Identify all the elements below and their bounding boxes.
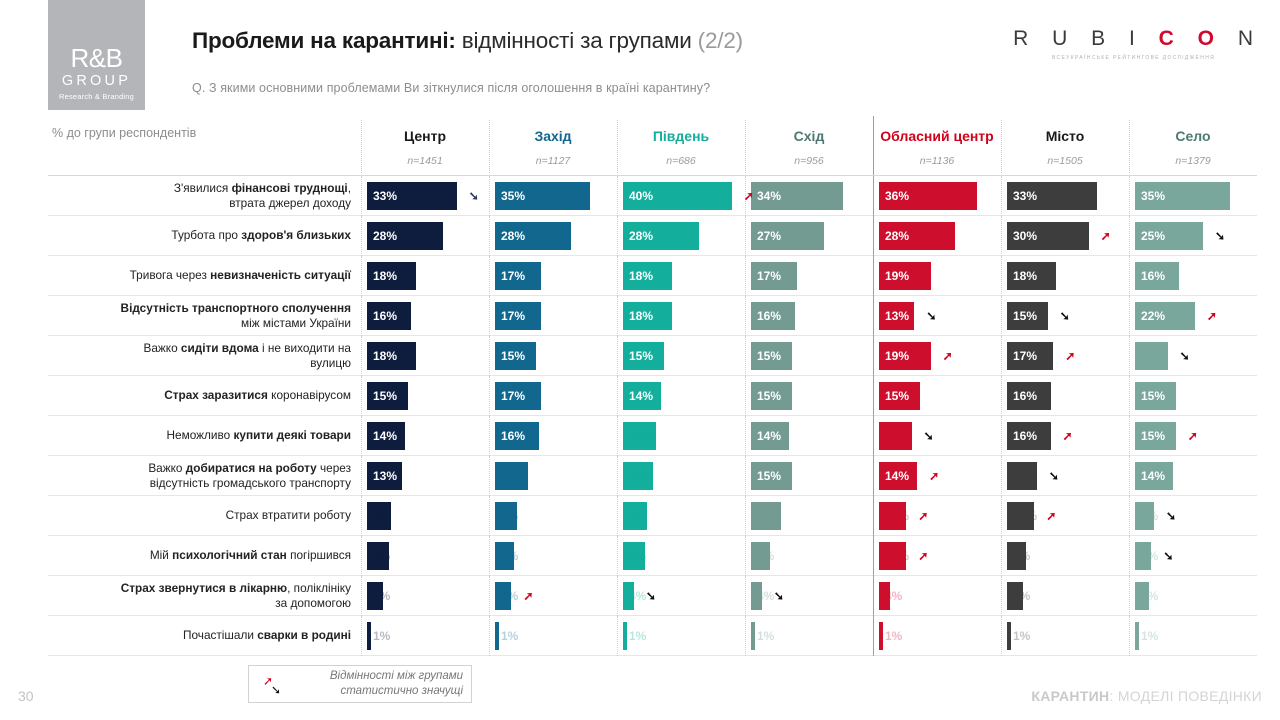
value-label: 14% <box>757 429 781 443</box>
data-cell[interactable]: 35% <box>1129 176 1257 216</box>
value-label: 15% <box>501 349 525 363</box>
data-cell[interactable]: 17% <box>489 296 617 336</box>
table-corner-label: % до групи респондентів <box>48 118 361 175</box>
value-label: 16% <box>1141 269 1165 283</box>
data-cell[interactable]: 4% <box>873 576 1001 616</box>
value-label: 34% <box>757 189 781 203</box>
table-row: Важко добиратися на роботу черезвідсутні… <box>48 456 1257 496</box>
value-label: 15% <box>757 349 781 363</box>
data-cell[interactable]: 18% <box>361 256 489 296</box>
value-bar: 14% <box>751 422 789 450</box>
value-bar: 8% <box>623 542 645 570</box>
data-cell[interactable]: 18% <box>361 336 489 376</box>
row-label: Страх звернутися в лікарню, поліклінікуз… <box>48 581 361 610</box>
value-label: 6% <box>1013 589 1030 603</box>
data-cell[interactable]: 13%➘ <box>873 296 1001 336</box>
value-bar: 18% <box>367 342 416 370</box>
value-bar: 33% <box>1007 182 1097 210</box>
value-bar: 1% <box>1135 622 1139 650</box>
value-bar: 17% <box>751 262 797 290</box>
value-label: 17% <box>501 309 525 323</box>
value-bar: 18% <box>623 302 672 330</box>
data-cell[interactable]: 7% <box>489 536 617 576</box>
data-cell[interactable]: 6%➚ <box>489 576 617 616</box>
data-cell[interactable]: 17% <box>489 376 617 416</box>
data-cell[interactable]: 4%➘ <box>745 576 873 616</box>
data-cell[interactable]: 27% <box>745 216 873 256</box>
data-cell[interactable]: 36% <box>873 176 1001 216</box>
value-bar: 6%➘ <box>1135 542 1151 570</box>
table-header-row: % до групи респондентівЦентрn=1451Західn… <box>48 118 1257 175</box>
data-cell[interactable]: 12%➘ <box>1129 336 1257 376</box>
data-cell[interactable]: 16% <box>745 296 873 336</box>
value-label: 16% <box>501 429 525 443</box>
arrow-up-icon: ➚ <box>1065 350 1075 362</box>
data-cell[interactable]: 1% <box>361 616 489 656</box>
table-body: З'явилися фінансові труднощі,втрата джер… <box>48 175 1257 656</box>
data-cell[interactable]: 7%➘ <box>1129 496 1257 536</box>
value-label: 4% <box>757 589 774 603</box>
value-bar: 11%➘ <box>1007 462 1037 490</box>
data-cell[interactable]: 1% <box>1129 616 1257 656</box>
slide-root: R&B GROUP Research & Branding Проблеми н… <box>0 0 1280 720</box>
row-label: Турбота про здоров'я близьких <box>48 228 361 243</box>
value-label: 14% <box>1141 469 1165 483</box>
value-label: 17% <box>757 269 781 283</box>
data-cell[interactable]: 30%➚ <box>1001 216 1129 256</box>
data-cell[interactable]: 8% <box>489 496 617 536</box>
value-label: 36% <box>885 189 909 203</box>
data-cell[interactable]: 15%➘ <box>1001 296 1129 336</box>
value-label: 10% <box>885 509 909 523</box>
value-bar: 5% <box>1135 582 1149 610</box>
value-bar: 14%➚ <box>879 462 917 490</box>
data-cell[interactable]: 28% <box>489 216 617 256</box>
value-label: 22% <box>1141 309 1165 323</box>
value-bar: 25%➘ <box>1135 222 1203 250</box>
column-header-name: Місто <box>1001 118 1129 144</box>
value-label: 18% <box>629 309 653 323</box>
data-cell[interactable]: 7% <box>1001 536 1129 576</box>
data-cell[interactable]: 14% <box>1129 456 1257 496</box>
data-cell[interactable]: 15%➚ <box>1129 416 1257 456</box>
data-cell[interactable]: 28% <box>617 216 745 256</box>
data-cell[interactable]: 17% <box>745 256 873 296</box>
value-bar: 36% <box>879 182 977 210</box>
column-sample-size: n=1505 <box>1001 155 1129 167</box>
data-cell[interactable]: 15% <box>745 456 873 496</box>
value-bar: 15% <box>367 382 408 410</box>
row-label: Тривога через невизначеність ситуації <box>48 268 361 283</box>
data-cell[interactable]: 1% <box>745 616 873 656</box>
value-label: 15% <box>757 389 781 403</box>
value-label: 5% <box>1141 589 1158 603</box>
value-bar: 16%➚ <box>1007 422 1051 450</box>
data-cell[interactable]: 1% <box>489 616 617 656</box>
value-bar: 1% <box>1007 622 1011 650</box>
value-bar: 11% <box>751 502 781 530</box>
data-cell[interactable]: 10%➚ <box>873 536 1001 576</box>
value-label: 4% <box>629 589 646 603</box>
value-label: 1% <box>1013 629 1030 643</box>
value-bar: 13%➘ <box>879 302 914 330</box>
column-header-name: Село <box>1129 118 1257 144</box>
data-cell[interactable]: 11%➘ <box>1001 456 1129 496</box>
value-label: 15% <box>757 469 781 483</box>
rubicon-suffix: N <box>1223 27 1262 50</box>
value-label: 7% <box>1141 509 1158 523</box>
data-cell[interactable]: 1% <box>1001 616 1129 656</box>
value-bar: 28% <box>367 222 443 250</box>
data-cell[interactable]: 1% <box>617 616 745 656</box>
value-label: 8% <box>629 549 646 563</box>
table-row: Страх заразитися коронавірусом15%17%14%1… <box>48 376 1257 416</box>
data-cell[interactable]: 8% <box>361 536 489 576</box>
arrow-down-icon: ➘ <box>774 590 784 602</box>
data-cell[interactable]: 16% <box>361 296 489 336</box>
value-label: 12% <box>885 429 909 443</box>
value-bar: 18% <box>623 262 672 290</box>
value-bar: 8% <box>495 502 517 530</box>
legend-line-1: Відмінності між групами <box>295 669 463 684</box>
arrow-down-icon: ➘ <box>926 310 936 322</box>
value-label: 28% <box>629 229 653 243</box>
value-bar: 11% <box>623 462 653 490</box>
value-label: 19% <box>885 269 909 283</box>
value-label: 7% <box>1013 549 1030 563</box>
logo-initials: R&B <box>71 45 123 71</box>
data-cell[interactable]: 14% <box>745 416 873 456</box>
value-bar: 22%➚ <box>1135 302 1195 330</box>
value-bar: 12% <box>623 422 656 450</box>
column-header-3[interactable]: Південьn=686 <box>617 118 745 175</box>
data-cell[interactable]: 19%➚ <box>873 336 1001 376</box>
row-label: Мій психологічний стан погіршився <box>48 548 361 563</box>
value-label: 10% <box>1013 509 1037 523</box>
arrow-up-icon: ➚ <box>1207 310 1217 322</box>
data-cell[interactable]: 5% <box>1129 576 1257 616</box>
data-cell[interactable]: 1% <box>873 616 1001 656</box>
data-cell[interactable]: 4%➘ <box>617 576 745 616</box>
data-cell[interactable]: 17% <box>489 256 617 296</box>
column-sample-size: n=1379 <box>1129 155 1257 167</box>
value-bar: 28% <box>623 222 699 250</box>
value-label: 13% <box>373 469 397 483</box>
value-label: 28% <box>885 229 909 243</box>
value-bar: 17% <box>495 302 541 330</box>
table-row: Мій психологічний стан погіршився8%7%8%7… <box>48 536 1257 576</box>
data-cell[interactable]: 28% <box>873 216 1001 256</box>
data-cell[interactable]: 18% <box>617 296 745 336</box>
row-label: Почастішали сварки в родині <box>48 628 361 643</box>
table-row: Турбота про здоров'я близьких28%28%28%27… <box>48 216 1257 256</box>
column-sample-size: n=1127 <box>489 155 617 167</box>
column-header-5[interactable]: Обласний центрn=1136 <box>873 118 1001 175</box>
data-cell[interactable]: 33% <box>1001 176 1129 216</box>
data-cell[interactable]: 15% <box>745 336 873 376</box>
arrow-up-icon: ➚ <box>1101 230 1111 242</box>
value-bar: 12% <box>495 462 528 490</box>
data-cell[interactable]: 19% <box>873 256 1001 296</box>
table-row: Почастішали сварки в родині1%1%1%1%1%1%1… <box>48 616 1257 656</box>
value-label: 11% <box>757 509 780 523</box>
value-label: 16% <box>1013 389 1037 403</box>
value-bar: 16% <box>495 422 539 450</box>
value-label: 16% <box>373 309 397 323</box>
data-cell[interactable]: 13% <box>361 456 489 496</box>
value-label: 27% <box>757 229 781 243</box>
value-bar: 33%➘ <box>367 182 457 210</box>
value-bar: 7% <box>751 542 770 570</box>
data-cell[interactable]: 15% <box>361 376 489 416</box>
column-header-2[interactable]: Західn=1127 <box>489 118 617 175</box>
data-cell[interactable]: 15% <box>617 336 745 376</box>
value-bar: 14% <box>1135 462 1173 490</box>
value-bar: 16% <box>1007 382 1051 410</box>
legend-arrow-icons: ➚ ➘ <box>249 666 295 702</box>
value-bar: 18% <box>367 262 416 290</box>
column-header-4[interactable]: Східn=956 <box>745 118 873 175</box>
column-header-name: Захід <box>489 118 617 144</box>
column-header-6[interactable]: Містоn=1505 <box>1001 118 1129 175</box>
value-bar: 7%➘ <box>1135 502 1154 530</box>
value-bar: 1% <box>495 622 499 650</box>
value-bar: 30%➚ <box>1007 222 1089 250</box>
data-cell[interactable]: 11% <box>617 456 745 496</box>
value-label: 15% <box>629 349 653 363</box>
data-cell[interactable]: 16% <box>1129 256 1257 296</box>
row-label: Страх заразитися коронавірусом <box>48 388 361 403</box>
value-bar: 19% <box>879 262 931 290</box>
logo-tagline: Research & Branding <box>59 92 134 101</box>
data-cell[interactable]: 25%➘ <box>1129 216 1257 256</box>
value-label: 1% <box>629 629 646 643</box>
data-cell[interactable]: 17%➚ <box>1001 336 1129 376</box>
value-bar: 15% <box>879 382 920 410</box>
value-label: 35% <box>1141 189 1165 203</box>
value-label: 14% <box>373 429 397 443</box>
value-bar: 4%➘ <box>751 582 762 610</box>
data-cell[interactable]: 6% <box>361 576 489 616</box>
value-label: 17% <box>501 269 525 283</box>
arrow-up-icon: ➚ <box>918 510 928 522</box>
data-cell[interactable]: 11% <box>745 496 873 536</box>
value-label: 11% <box>1013 469 1036 483</box>
data-cell[interactable]: 12% <box>617 416 745 456</box>
footer-bold: КАРАНТИН <box>1031 688 1109 704</box>
value-label: 6% <box>501 589 518 603</box>
value-label: 14% <box>885 469 909 483</box>
rubicon-accent: C O <box>1159 27 1223 50</box>
column-header-name: Обласний центр <box>873 118 1001 144</box>
arrow-down-icon: ➘ <box>1049 470 1059 482</box>
value-label: 1% <box>1141 629 1158 643</box>
value-label: 35% <box>501 189 525 203</box>
table-row: Страх звернутися в лікарню, поліклінікуз… <box>48 576 1257 616</box>
rubicon-logo: R U B I C O N ВСЕУКРАЇНСЬКЕ РЕЙТИНГОВЕ Д… <box>1013 27 1262 61</box>
data-cell[interactable]: 18% <box>1001 256 1129 296</box>
data-cell[interactable]: 22%➚ <box>1129 296 1257 336</box>
value-label: 9% <box>373 509 390 523</box>
arrow-down-icon: ➘ <box>1163 550 1173 562</box>
value-bar: 4%➘ <box>623 582 634 610</box>
data-cell[interactable]: 8% <box>617 536 745 576</box>
value-bar: 17% <box>495 382 541 410</box>
arrow-up-icon: ➚ <box>1046 510 1056 522</box>
value-bar: 1% <box>623 622 627 650</box>
page-number: 30 <box>18 688 34 704</box>
value-label: 12% <box>501 469 525 483</box>
value-label: 8% <box>501 509 518 523</box>
value-bar: 9% <box>367 502 391 530</box>
value-label: 18% <box>373 269 397 283</box>
value-label: 17% <box>1013 349 1037 363</box>
arrow-up-icon: ➚ <box>1188 430 1198 442</box>
data-cell[interactable]: 34% <box>745 176 873 216</box>
value-bar: 19%➚ <box>879 342 931 370</box>
value-label: 25% <box>1141 229 1165 243</box>
results-table: % до групи респондентівЦентрn=1451Західn… <box>48 118 1257 656</box>
data-cell[interactable]: 10%➚ <box>873 496 1001 536</box>
value-bar: 10%➚ <box>1007 502 1034 530</box>
data-cell[interactable]: 6%➘ <box>1129 536 1257 576</box>
arrow-up-icon: ➚ <box>1063 430 1073 442</box>
value-label: 30% <box>1013 229 1037 243</box>
value-label: 4% <box>885 589 902 603</box>
data-cell[interactable]: 6% <box>1001 576 1129 616</box>
value-label: 28% <box>373 229 397 243</box>
value-label: 16% <box>757 309 781 323</box>
data-cell[interactable]: 35% <box>489 176 617 216</box>
value-label: 10% <box>885 549 909 563</box>
column-header-1[interactable]: Центрn=1451 <box>361 118 489 175</box>
significance-legend: ➚ ➘ Відмінності між групами статистично … <box>248 665 472 703</box>
column-sample-size: n=1451 <box>361 155 489 167</box>
data-cell[interactable]: 7% <box>745 536 873 576</box>
value-bar: 40%➚ <box>623 182 732 210</box>
value-label: 8% <box>373 549 390 563</box>
data-cell[interactable]: 15% <box>745 376 873 416</box>
value-bar: 35% <box>1135 182 1230 210</box>
value-bar: 15% <box>751 462 792 490</box>
data-cell[interactable]: 14%➚ <box>873 456 1001 496</box>
value-bar: 27% <box>751 222 824 250</box>
value-bar: 6%➚ <box>495 582 511 610</box>
page-title-pagecount: (2/2) <box>698 28 743 53</box>
value-bar: 1% <box>751 622 755 650</box>
value-label: 16% <box>1013 429 1037 443</box>
value-bar: 15% <box>751 382 792 410</box>
value-label: 7% <box>501 549 518 563</box>
data-cell[interactable]: 16%➚ <box>1001 416 1129 456</box>
row-label: З'явилися фінансові труднощі,втрата джер… <box>48 181 361 210</box>
table-row: Страх втратити роботу9%8%9%11%10%➚10%➚7%… <box>48 496 1257 536</box>
page-title-bold: Проблеми на карантині: <box>192 28 456 53</box>
data-cell[interactable]: 14% <box>361 416 489 456</box>
data-cell[interactable]: 15% <box>1129 376 1257 416</box>
data-cell[interactable]: 40%➚ <box>617 176 745 216</box>
value-label: 1% <box>757 629 774 643</box>
value-bar: 15%➘ <box>1007 302 1048 330</box>
value-bar: 13% <box>367 462 402 490</box>
row-label: Важко сидіти вдома і не виходити навулиц… <box>48 341 361 370</box>
data-cell[interactable]: 10%➚ <box>1001 496 1129 536</box>
data-cell[interactable]: 14% <box>617 376 745 416</box>
data-cell[interactable]: 9% <box>617 496 745 536</box>
table-row: Неможливо купити деякі товари14%16%12%14… <box>48 416 1257 456</box>
data-cell[interactable]: 12% <box>489 456 617 496</box>
value-bar: 1% <box>879 622 883 650</box>
column-header-name: Схід <box>745 118 873 144</box>
data-cell[interactable]: 18% <box>617 256 745 296</box>
value-label: 19% <box>885 349 909 363</box>
data-cell[interactable]: 12%➘ <box>873 416 1001 456</box>
row-label: Відсутність транспортного сполученняміж … <box>48 301 361 330</box>
value-bar: 16% <box>1135 262 1179 290</box>
data-cell[interactable]: 33%➘ <box>361 176 489 216</box>
arrow-up-icon: ➚ <box>523 590 533 602</box>
rubicon-wordmark: R U B I C O N <box>1013 27 1262 51</box>
table-row: Тривога через невизначеність ситуації18%… <box>48 256 1257 296</box>
arrow-up-icon: ➚ <box>929 470 939 482</box>
value-bar: 6% <box>1007 582 1023 610</box>
value-label: 1% <box>373 629 390 643</box>
data-cell[interactable]: 15% <box>873 376 1001 416</box>
data-cell[interactable]: 16% <box>489 416 617 456</box>
legend-line-2: статистично значущі <box>295 684 463 699</box>
value-label: 12% <box>1141 349 1165 363</box>
rnb-group-logo: R&B GROUP Research & Branding <box>48 0 145 110</box>
footer-rest: : МОДЕЛІ ПОВЕДІНКИ <box>1109 688 1262 704</box>
value-bar: 1% <box>367 622 371 650</box>
data-cell[interactable]: 9% <box>361 496 489 536</box>
value-bar: 34% <box>751 182 843 210</box>
value-label: 28% <box>501 229 525 243</box>
rubicon-prefix: R U B I <box>1013 27 1159 50</box>
value-label: 1% <box>885 629 902 643</box>
value-bar: 14% <box>367 422 405 450</box>
value-label: 7% <box>757 549 774 563</box>
value-bar: 15%➚ <box>1135 422 1176 450</box>
value-bar: 10%➚ <box>879 502 906 530</box>
column-sample-size: n=956 <box>745 155 873 167</box>
data-cell[interactable]: 15% <box>489 336 617 376</box>
value-label: 18% <box>629 269 653 283</box>
value-label: 11% <box>629 469 652 483</box>
value-label: 15% <box>373 389 397 403</box>
column-header-7[interactable]: Селоn=1379 <box>1129 118 1257 175</box>
value-bar: 35% <box>495 182 590 210</box>
data-cell[interactable]: 28% <box>361 216 489 256</box>
value-bar: 12%➘ <box>879 422 912 450</box>
value-bar: 15% <box>623 342 664 370</box>
value-bar: 14% <box>623 382 661 410</box>
column-sample-size: n=1136 <box>873 155 1001 167</box>
question-subtitle: Q. З якими основними проблемами Ви зіткн… <box>192 81 710 95</box>
data-cell[interactable]: 16% <box>1001 376 1129 416</box>
arrow-down-icon: ➘ <box>469 190 479 202</box>
arrow-up-icon: ➚ <box>918 550 928 562</box>
page-title: Проблеми на карантині: відмінності за гр… <box>192 28 743 54</box>
arrow-down-icon: ➘ <box>924 430 934 442</box>
row-label: Важко добиратися на роботу черезвідсутні… <box>48 461 361 490</box>
value-bar: 15% <box>1135 382 1176 410</box>
page-title-normal: відмінності за групами <box>456 28 698 53</box>
value-bar: 7% <box>495 542 514 570</box>
column-header-name: Південь <box>617 118 745 144</box>
value-label: 18% <box>373 349 397 363</box>
value-bar: 15% <box>751 342 792 370</box>
